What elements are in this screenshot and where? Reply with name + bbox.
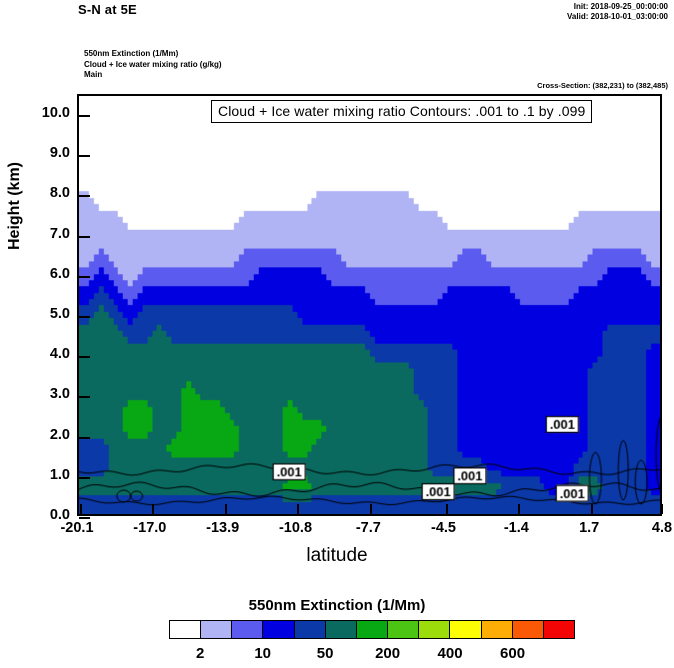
y-tick	[79, 115, 90, 117]
y-tick	[79, 316, 90, 318]
y-tick	[79, 195, 90, 197]
colorbar-swatch-2	[232, 621, 263, 638]
colorbar-swatch-12	[544, 621, 574, 638]
x-tick-label: -1.4	[481, 520, 551, 536]
x-tick-label: 4.8	[627, 520, 674, 536]
x-tick	[591, 504, 593, 514]
cross-section-plot: Cloud + Ice water mixing ratio Contours:…	[77, 94, 662, 516]
y-tick-label: 4.0	[20, 346, 70, 362]
colorbar-swatch-1	[201, 621, 232, 638]
x-tick-label: 1.7	[554, 520, 624, 536]
x-tick	[661, 504, 663, 514]
y-tick	[79, 155, 90, 157]
colorbar-swatch-7	[388, 621, 419, 638]
x-tick	[297, 504, 299, 514]
colorbar-tick-label: 200	[358, 645, 418, 662]
x-tick-label: -17.0	[115, 520, 185, 536]
contour-field	[79, 96, 660, 514]
y-tick	[79, 356, 90, 358]
colorbar-tick-labels: 21050200400600	[0, 645, 674, 667]
colorbar	[169, 620, 575, 639]
colorbar-swatch-6	[357, 621, 388, 638]
y-tick	[79, 477, 90, 479]
y-tick-label: 8.0	[20, 185, 70, 201]
y-tick-label: 3.0	[20, 386, 70, 402]
y-tick	[79, 276, 90, 278]
colorbar-swatch-4	[295, 621, 326, 638]
colorbar-tick-label: 400	[420, 645, 480, 662]
colorbar-tick-label: 2	[170, 645, 230, 662]
colorbar-swatch-9	[450, 621, 481, 638]
y-tick-label: 10.0	[20, 105, 70, 121]
field-line-extinction: 550nm Extinction (1/Mm)	[84, 49, 222, 60]
y-tick-label: 2.0	[20, 427, 70, 443]
x-tick	[152, 504, 154, 514]
x-tick	[446, 504, 448, 514]
x-tick	[225, 504, 227, 514]
y-tick-label: 1.0	[20, 467, 70, 483]
x-tick-label: -13.9	[188, 520, 258, 536]
x-tick-label: -20.1	[42, 520, 112, 536]
init-time: Init: 2018-09-25_00:00:00	[567, 2, 668, 12]
cross-section-coords: Cross-Section: (382,231) to (382,485)	[537, 81, 668, 90]
field-line-mixing-ratio: Cloud + Ice water mixing ratio (g/kg)	[84, 60, 222, 71]
x-tick	[80, 504, 82, 514]
valid-time: Valid: 2018-10-01_03:00:00	[567, 12, 668, 22]
shaded-extinction-canvas	[79, 96, 660, 514]
colorbar-swatch-10	[482, 621, 513, 638]
x-tick	[518, 504, 520, 514]
y-tick-label: 9.0	[20, 145, 70, 161]
x-tick-label: -7.7	[333, 520, 403, 536]
y-tick	[79, 437, 90, 439]
colorbar-tick-label: 10	[233, 645, 293, 662]
x-tick	[370, 504, 372, 514]
colorbar-swatch-8	[419, 621, 450, 638]
y-tick	[79, 396, 90, 398]
run-times: Init: 2018-09-25_00:00:00 Valid: 2018-10…	[567, 2, 668, 22]
x-axis-title: latitude	[0, 545, 674, 567]
x-tick-label: -10.8	[260, 520, 330, 536]
field-description: 550nm Extinction (1/Mm) Cloud + Ice wate…	[84, 49, 222, 81]
x-tick-label: -4.5	[409, 520, 479, 536]
contour-title-box: Cloud + Ice water mixing ratio Contours:…	[211, 100, 592, 123]
colorbar-swatch-11	[513, 621, 544, 638]
y-tick-label: 5.0	[20, 306, 70, 322]
field-line-domain: Main	[84, 70, 222, 81]
colorbar-tick-label: 50	[295, 645, 355, 662]
colorbar-title: 550nm Extinction (1/Mm)	[0, 597, 674, 614]
colorbar-swatch-3	[263, 621, 294, 638]
y-tick-label: 6.0	[20, 266, 70, 282]
y-tick	[79, 236, 90, 238]
page-title: S-N at 5E	[78, 2, 137, 17]
colorbar-swatch-5	[326, 621, 357, 638]
colorbar-tick-label: 600	[483, 645, 543, 662]
y-tick-label: 7.0	[20, 226, 70, 242]
y-tick	[79, 517, 90, 519]
colorbar-swatch-0	[170, 621, 201, 638]
